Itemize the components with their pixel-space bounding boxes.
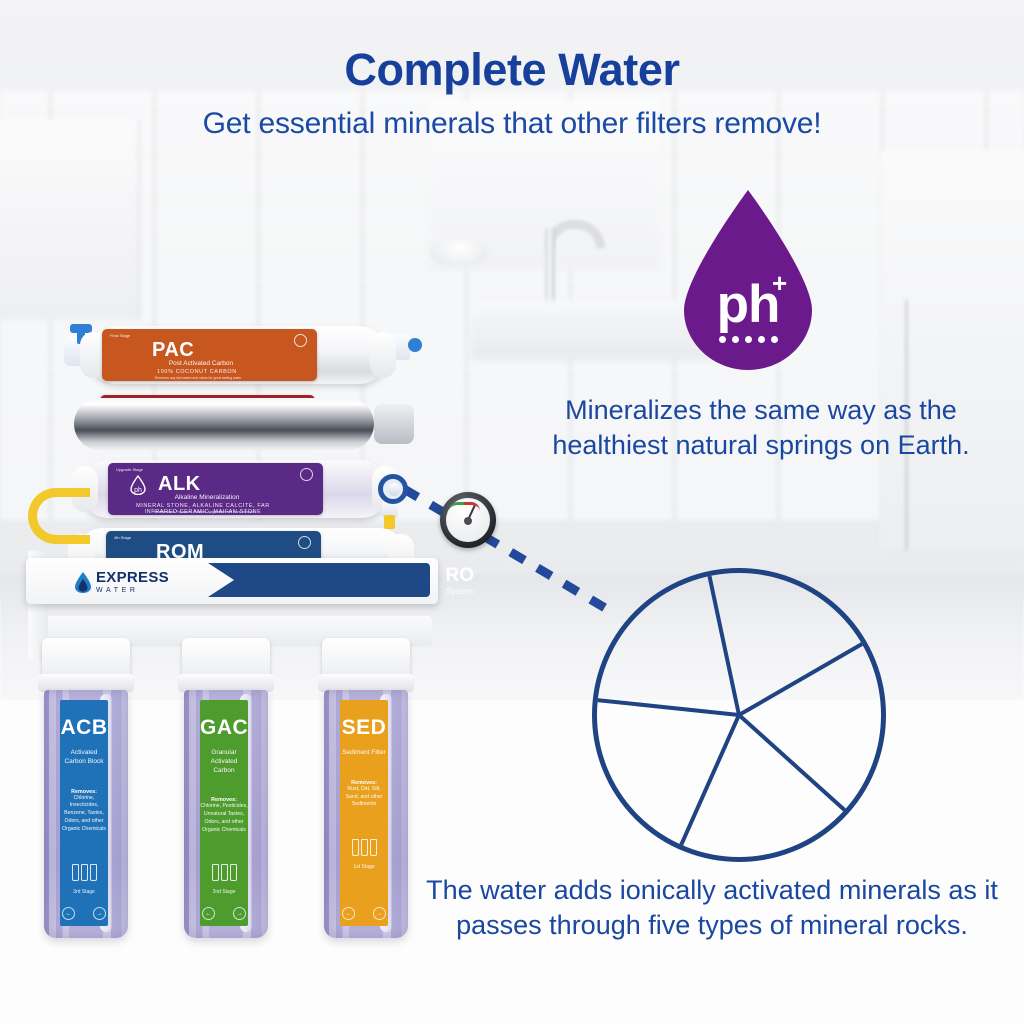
housing-name: Activated Carbon Block	[60, 749, 108, 767]
label-micro: Removes any last tastes and odors for gr…	[118, 376, 278, 380]
page-subtitle: Get essential minerals that other filter…	[0, 107, 1024, 140]
ro-system-badge: RO System	[446, 566, 475, 596]
label-code: PAC	[152, 339, 194, 362]
mineral-paragraph: Mineralizes the same way as the healthie…	[505, 393, 1017, 462]
housing-code: SED	[340, 716, 388, 740]
flow-arrow-icons: ←→	[342, 907, 386, 920]
valve-inner	[388, 483, 400, 496]
housing-sed: SED Sediment Filter Removes: Rust, Dirt,…	[320, 638, 412, 938]
label-caps: 100% COCONUT CARBON	[122, 369, 272, 375]
mineral-segment-divider	[738, 639, 868, 716]
logo-main-text: EXPRESS	[96, 570, 169, 585]
housing-acb: ACB Activated Carbon Block Removes: Chlo…	[40, 638, 132, 938]
housing-neck	[42, 638, 130, 678]
headline-block: Complete Water Get essential minerals th…	[0, 46, 1024, 140]
yellow-tubing	[28, 488, 90, 544]
housing-stage: 2nd Stage	[200, 889, 248, 895]
label-stage-note: Upgrade Stage	[116, 467, 143, 472]
housing-removes-list: Chlorine, Pesticides, Unnatural Tastes, …	[200, 803, 248, 834]
housing-label-gac: GAC Granular Activated Carbon Removes: C…	[200, 700, 248, 926]
housing-neck	[322, 638, 410, 678]
brand-bar-chevron	[208, 563, 430, 597]
blue-feed-valve	[378, 474, 408, 504]
valve-yellow-tab	[384, 515, 395, 529]
mineral-segment-divider	[706, 570, 741, 716]
pressure-gauge	[440, 492, 496, 548]
blue-port-right	[408, 338, 422, 352]
svg-text:ph: ph	[134, 487, 142, 494]
housing-removes-list: Rust, Dirt, Silt, Sand, and other Sedime…	[340, 786, 388, 809]
cartridge-pac: Final Stage PAC Post Activated Carbon 10…	[88, 326, 388, 384]
cartridge-cap-right	[370, 332, 396, 378]
gauge-green-arc	[449, 502, 465, 511]
label-micro: Remineralizes Potassium, Calcium, Magnes…	[124, 510, 284, 514]
stage-diagram-icon	[340, 839, 388, 856]
gauge-hub	[464, 517, 472, 525]
express-water-logo: EXPRESS WATER	[74, 570, 169, 594]
ro-badge-word: System	[446, 587, 475, 596]
label-name: Post Activated Carbon	[136, 360, 266, 367]
background-cabinet-left	[0, 120, 140, 320]
label-badge-icon	[294, 334, 307, 347]
flow-arrow-icons: ←→	[62, 907, 106, 920]
ph-plus-superscript: +	[772, 270, 787, 296]
mineral-rock-pie-diagram	[592, 568, 886, 862]
ro-badge-code: RO	[446, 566, 475, 585]
housing-stage: 3rd Stage	[60, 889, 108, 895]
label-code: ALK	[158, 473, 201, 496]
label-badge-icon	[298, 536, 311, 549]
label-stage-note: 4th Stage	[114, 535, 131, 540]
housing-code: ACB	[60, 716, 108, 740]
uv-sterilizer-steel-body	[74, 398, 374, 450]
mineral-segment-divider	[738, 714, 851, 816]
housing-name: Sediment Filter	[340, 749, 388, 758]
housing-neck	[182, 638, 270, 678]
housing-code: GAC	[200, 716, 248, 740]
housing-label-acb: ACB Activated Carbon Block Removes: Chlo…	[60, 700, 108, 926]
stage-diagram-icon	[60, 864, 108, 881]
logo-droplet-icon	[74, 571, 92, 594]
uv-end-cap	[374, 404, 414, 444]
housing-gac: GAC Granular Activated Carbon Removes: C…	[180, 638, 272, 938]
ph-droplet-icon: ph	[130, 475, 146, 495]
housing-name: Granular Activated Carbon	[200, 749, 248, 775]
ph-plus-droplet-badge: ph +	[684, 190, 812, 370]
label-badge-icon	[300, 468, 313, 481]
housing-stage: 1st Stage	[340, 864, 388, 870]
housing-removes-list: Chlorine, Insecticides, Benzene, Tastes,…	[60, 795, 108, 834]
ph-label: ph	[684, 278, 812, 331]
ph-dots	[684, 336, 812, 343]
logo-sub-text: WATER	[96, 587, 169, 594]
housing-label-sed: SED Sediment Filter Removes: Rust, Dirt,…	[340, 700, 388, 926]
label-name: Alkaline Mineralization	[142, 494, 272, 501]
background-cabinet-right	[880, 150, 1024, 550]
mineral-segment-divider	[592, 698, 739, 717]
stage-diagram-icon	[200, 864, 248, 881]
background-bowl	[430, 240, 488, 266]
cartridge-label-alk: Upgrade Stage ph ALK Alkaline Mineraliza…	[108, 463, 323, 515]
background-faucet-stem	[545, 228, 555, 306]
cartridge-alk: Upgrade Stage ph ALK Alkaline Mineraliza…	[80, 460, 390, 518]
flow-arrow-icons: ←→	[202, 907, 246, 920]
logo-text: EXPRESS WATER	[96, 570, 169, 594]
mineral-segment-divider	[677, 714, 741, 851]
cartridge-label-pac: Final Stage PAC Post Activated Carbon 10…	[102, 329, 317, 381]
page-title: Complete Water	[0, 46, 1024, 93]
label-stage-note: Final Stage	[110, 333, 130, 338]
bottom-paragraph: The water adds ionically activated miner…	[400, 873, 1024, 943]
